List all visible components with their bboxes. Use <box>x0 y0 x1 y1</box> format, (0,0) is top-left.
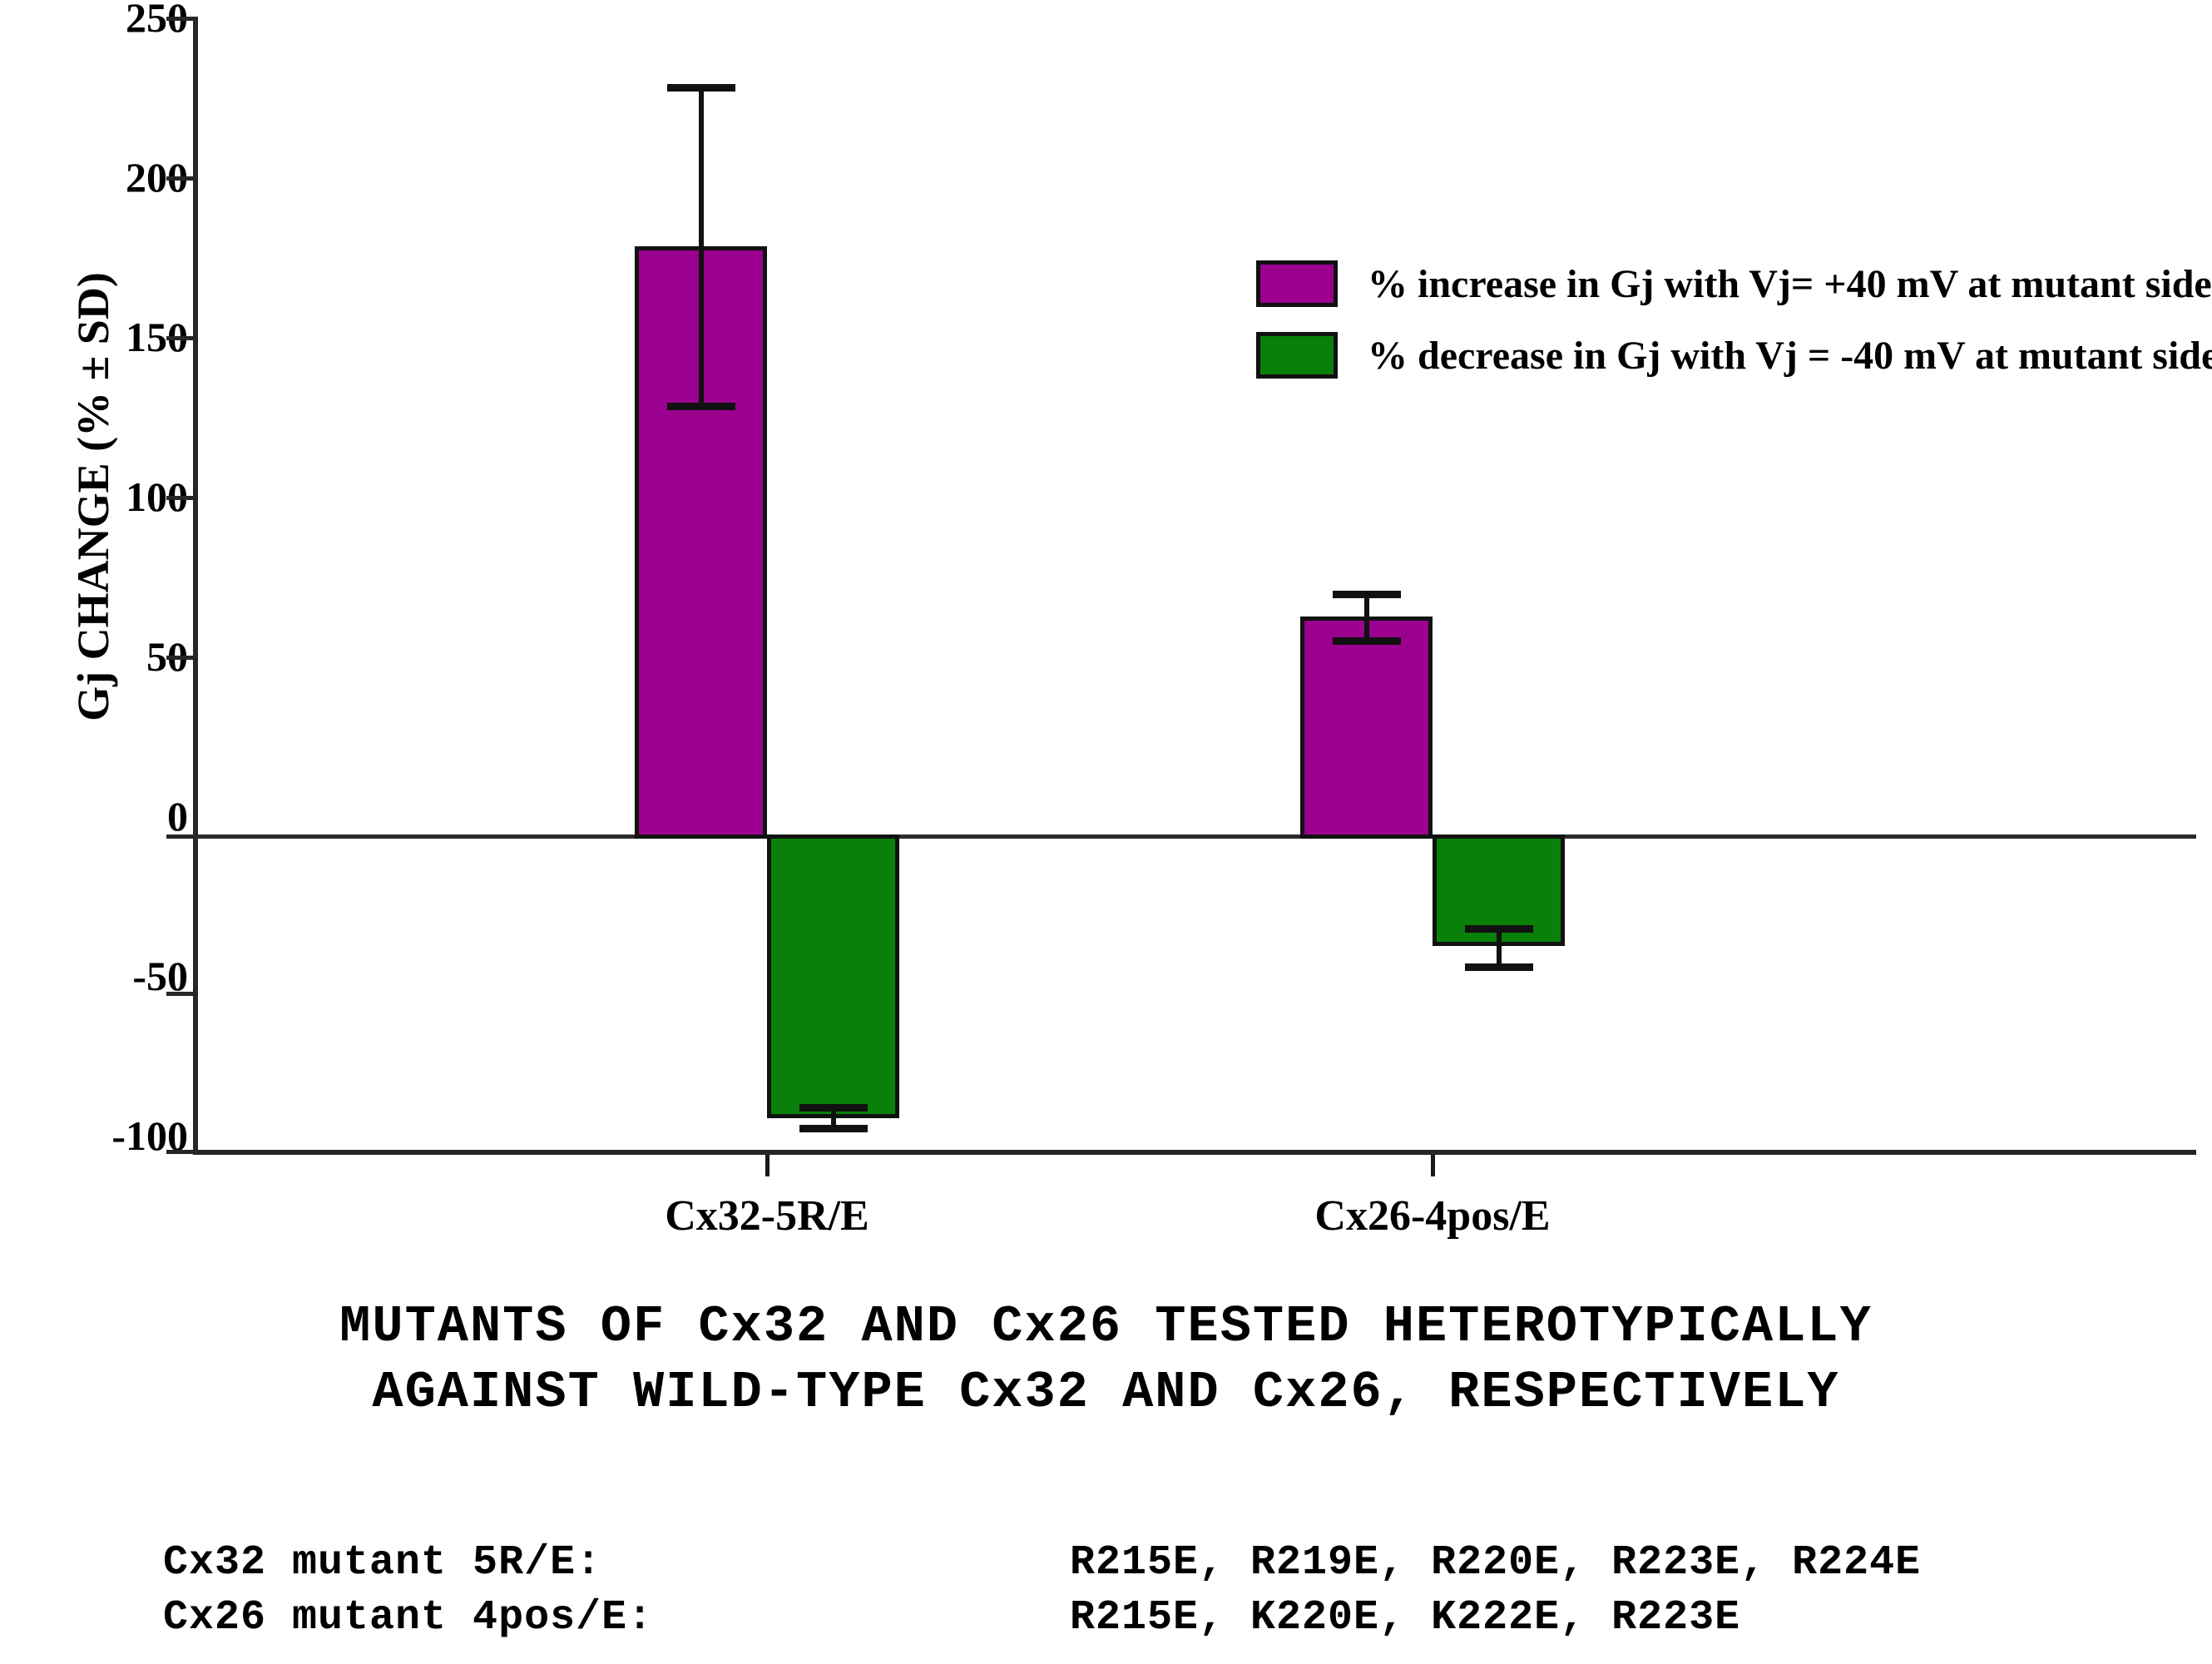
figure-caption: MUTANTS OF Cx32 AND Cx26 TESTED HETEROTY… <box>0 1294 2212 1426</box>
x-axis-label-cx32-5re: Cx32-5R/E <box>551 1191 983 1241</box>
chart-figure: Gj CHANGE (% ± SD) 250 200 150 100 50 0 … <box>0 0 2212 1664</box>
error-bar-cap-lower <box>1465 963 1533 971</box>
error-bar-cap-upper <box>1333 591 1401 598</box>
y-tick-label-50: 50 <box>5 632 188 681</box>
mutant-label-cx32: Cx32 mutant 5R/E: <box>163 1536 1070 1591</box>
mutant-legend-table: Cx32 mutant 5R/E: R215E, R219E, R220E, R… <box>163 1536 2076 1646</box>
y-tick-label-neg50: -50 <box>5 952 188 1000</box>
legend-swatch-increase-icon <box>1256 260 1338 307</box>
y-tick-label-neg100: -100 <box>5 1112 188 1160</box>
error-bar-cap-upper <box>799 1104 868 1112</box>
legend-label-increase: % increase in Gj with Vj= +40 mV at muta… <box>1368 261 2212 307</box>
error-bar-cx26-4pose-increase <box>1300 591 1433 645</box>
bar-cx32-5re-decrease[interactable] <box>767 834 899 1118</box>
y-tick-mark-neg100 <box>166 1150 193 1154</box>
legend-item-increase[interactable]: % increase in Gj with Vj= +40 mV at muta… <box>1256 248 2212 319</box>
legend-swatch-decrease-icon <box>1256 332 1338 379</box>
error-bar-cap-lower <box>667 403 735 410</box>
y-tick-mark-250 <box>166 17 193 21</box>
y-tick-label-0: 0 <box>5 792 188 840</box>
y-tick-label-250: 250 <box>5 0 188 42</box>
mutant-row-cx26: Cx26 mutant 4pos/E: R215E, K220E, K222E,… <box>163 1591 2076 1646</box>
y-tick-label-100: 100 <box>5 473 188 521</box>
error-bar-cx32-5re-increase <box>635 84 767 410</box>
error-bar-cx26-4pose-decrease <box>1433 925 1565 971</box>
mutant-value-cx32: R215E, R219E, R220E, R223E, R224E <box>1070 1536 2076 1591</box>
zero-baseline <box>193 834 2196 839</box>
x-tick-mark-cx26-4pose <box>1431 1155 1435 1176</box>
chart-legend: % increase in Gj with Vj= +40 mV at muta… <box>1256 248 2212 391</box>
mutant-value-cx26: R215E, K220E, K222E, R223E <box>1070 1591 2076 1646</box>
y-tick-mark-neg50 <box>166 992 193 996</box>
y-axis-line <box>193 17 198 1154</box>
bar-cx26-4pose-increase[interactable] <box>1300 617 1433 839</box>
mutant-label-cx26: Cx26 mutant 4pos/E: <box>163 1591 1070 1646</box>
y-tick-label-150: 150 <box>5 313 188 361</box>
error-bar-cap-upper <box>1465 925 1533 933</box>
caption-line-2: AGAINST WILD-TYPE Cx32 AND Cx26, RESPECT… <box>0 1359 2212 1425</box>
error-bar-cx32-5re-decrease <box>767 1104 899 1132</box>
y-tick-mark-50 <box>166 656 193 660</box>
x-axis-line <box>193 1150 2196 1155</box>
caption-line-1: MUTANTS OF Cx32 AND Cx26 TESTED HETEROTY… <box>0 1294 2212 1359</box>
error-bar-stem <box>699 84 704 410</box>
error-bar-cap-lower <box>799 1125 868 1132</box>
mutant-row-cx32: Cx32 mutant 5R/E: R215E, R219E, R220E, R… <box>163 1536 2076 1591</box>
y-tick-mark-200 <box>166 176 193 181</box>
y-tick-mark-0 <box>166 834 193 839</box>
error-bar-cap-lower <box>1333 637 1401 645</box>
plot-area: Cx32-5R/E Cx26-4pos/E % increase in Gj w… <box>193 17 2196 1154</box>
y-tick-mark-100 <box>166 496 193 500</box>
error-bar-cap-upper <box>667 84 735 92</box>
x-tick-mark-cx32-5re <box>765 1155 769 1176</box>
y-tick-label-200: 200 <box>5 153 188 201</box>
legend-label-decrease: % decrease in Gj with Vj = -40 mV at mut… <box>1368 333 2212 379</box>
y-tick-mark-150 <box>166 336 193 340</box>
legend-item-decrease[interactable]: % decrease in Gj with Vj = -40 mV at mut… <box>1256 319 2212 391</box>
x-axis-label-cx26-4pose: Cx26-4pos/E <box>1216 1191 1649 1241</box>
